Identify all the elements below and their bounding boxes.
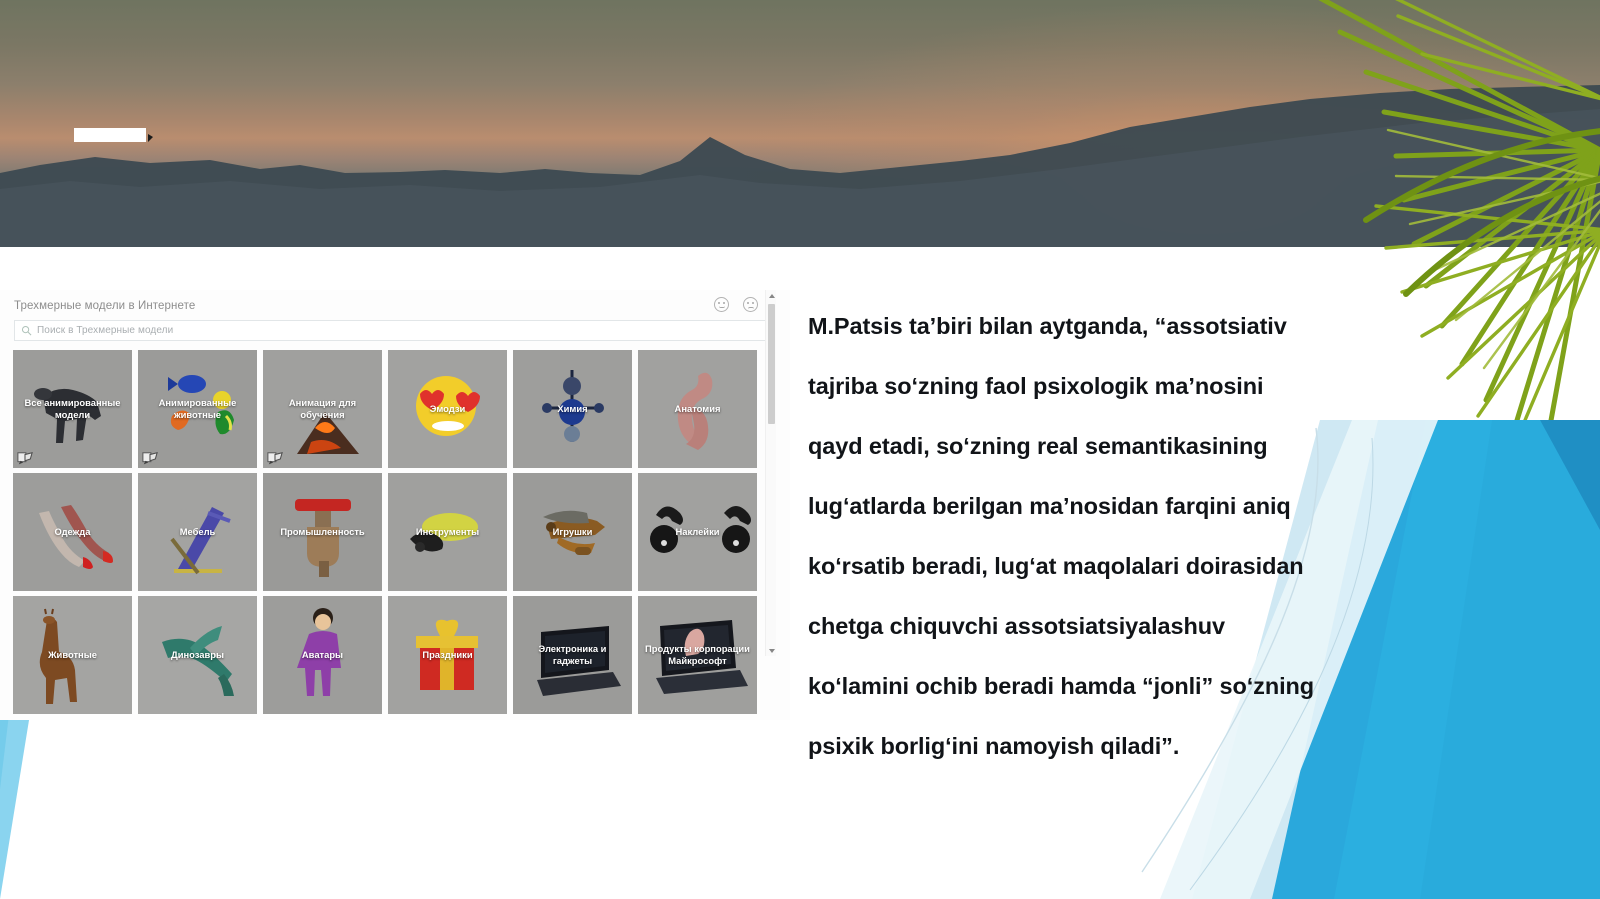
model-category-tile[interactable]: Эмодзи (388, 350, 507, 468)
mouse-cursor-icon (148, 134, 153, 142)
model-category-tile[interactable]: Одежда (13, 473, 132, 591)
models-tile-grid: Все анимированные моделиАнимированные жи… (13, 350, 765, 714)
model-category-label: Химия (551, 403, 593, 415)
model-category-tile[interactable]: Электроника и гаджеты (513, 596, 632, 714)
model-category-label: Праздники (416, 649, 478, 661)
model-category-tile[interactable]: Анимация для обучения (263, 350, 382, 468)
model-category-tile[interactable]: Аватары (263, 596, 382, 714)
model-category-tile[interactable]: Анимированные животные (138, 350, 257, 468)
model-category-tile[interactable]: Анатомия (638, 350, 757, 468)
panel-scrollbar[interactable] (765, 290, 776, 656)
model-category-label: Анимированные животные (138, 397, 257, 421)
model-category-label: Животные (42, 649, 103, 661)
search-icon (21, 325, 32, 336)
animation-badge-icon (142, 451, 158, 465)
model-category-label: Анимация для обучения (263, 397, 382, 421)
chevron-up-icon[interactable] (766, 290, 777, 301)
model-category-tile[interactable]: Инструменты (388, 473, 507, 591)
animation-badge-icon (17, 451, 33, 465)
quote-paragraph: M.Patsis ta’biri bilan aytganda, “assots… (808, 296, 1508, 776)
main-paragraph-block: M.Patsis ta’biri bilan aytganda, “assots… (808, 296, 1508, 776)
search-placeholder-text: Поиск в Трехмерные модели (37, 325, 173, 336)
model-category-label: Инструменты (410, 526, 485, 538)
model-category-label: Мебель (174, 526, 222, 538)
model-category-label: Наклейки (669, 526, 725, 538)
panel-header: Трехмерные модели в Интернете (0, 290, 790, 318)
model-category-label: Динозавры (165, 649, 230, 661)
feedback-smile-icon[interactable] (714, 297, 729, 312)
feedback-frown-icon[interactable] (743, 297, 758, 312)
models-grid-area: Все анимированные моделиАнимированные жи… (13, 350, 765, 716)
model-category-label: Электроника и гаджеты (513, 643, 632, 667)
model-category-label: Все анимированные модели (13, 397, 132, 421)
models-3d-panel: Трехмерные модели в Интернете Поиск в Тр… (0, 290, 790, 720)
model-category-tile[interactable]: Мебель (138, 473, 257, 591)
model-category-label: Анатомия (669, 403, 727, 415)
model-category-label: Продукты корпорации Майкрософт (638, 643, 757, 667)
model-category-tile[interactable]: Динозавры (138, 596, 257, 714)
panel-header-icons (714, 297, 758, 312)
hero-banner-image (0, 0, 1600, 247)
model-category-label: Игрушки (547, 526, 599, 538)
model-category-tile[interactable]: Игрушки (513, 473, 632, 591)
model-category-tile[interactable]: Химия (513, 350, 632, 468)
mountain-ridge-silhouette (0, 77, 1600, 247)
scrollbar-thumb[interactable] (768, 304, 775, 424)
model-category-tile[interactable]: Животные (13, 596, 132, 714)
model-category-tile[interactable]: Промышленность (263, 473, 382, 591)
model-category-tile[interactable]: Праздники (388, 596, 507, 714)
model-category-tile[interactable]: Наклейки (638, 473, 757, 591)
page-title: Трехмерные модели в Интернете (14, 300, 195, 312)
banner-caption-placeholder (74, 128, 146, 142)
model-category-tile[interactable]: Все анимированные модели (13, 350, 132, 468)
model-category-label: Промышленность (274, 526, 370, 538)
model-category-label: Одежда (49, 526, 97, 538)
search-input[interactable]: Поиск в Трехмерные модели (14, 320, 776, 341)
chevron-down-icon[interactable] (766, 645, 777, 656)
model-category-tile[interactable]: Продукты корпорации Майкрософт (638, 596, 757, 714)
model-category-label: Аватары (296, 649, 349, 661)
model-category-label: Эмодзи (424, 403, 472, 415)
animation-badge-icon (267, 451, 283, 465)
